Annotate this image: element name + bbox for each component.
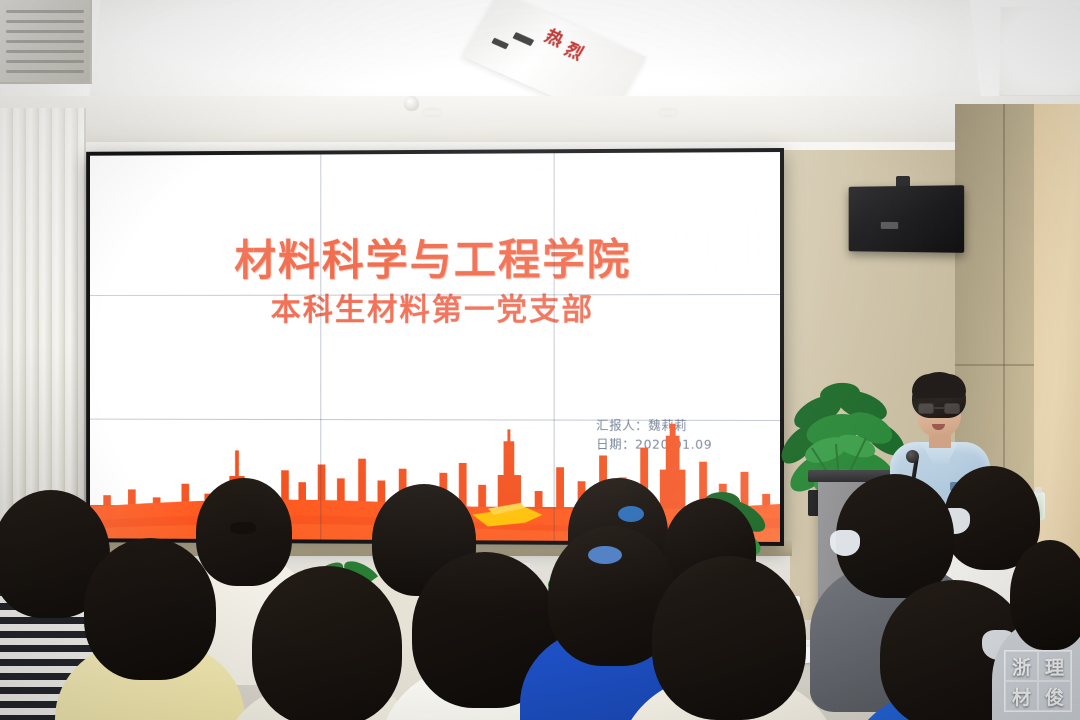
- watermark-char-2: 理: [1038, 651, 1071, 681]
- watermark-char-1: 浙: [1005, 651, 1038, 681]
- slide-subtitle: 本科生材料第一党支部: [90, 293, 780, 327]
- ceiling-spot-light: [660, 110, 676, 115]
- smoke-detector: [404, 96, 419, 111]
- watermark-char-3: 材: [1005, 681, 1038, 711]
- speaker-brand-logo: [881, 222, 898, 229]
- audience-person: [84, 538, 216, 680]
- ceiling-light-panel-secondary: [999, 7, 1080, 98]
- glasses-icon: [918, 403, 960, 414]
- presenter-hair-fringe: [912, 374, 966, 398]
- slide-title-block: 材料科学与工程学院 本科生材料第一党支部: [90, 238, 780, 327]
- audience-person: [652, 556, 806, 720]
- air-conditioner-vent: [0, 0, 92, 84]
- audience-person: [252, 566, 402, 720]
- conference-room-photo: 热 烈 材料科学与工程学院 本科生材料第一党支部 汇报人：魏莉莉 日期：2: [0, 0, 1080, 720]
- slide-title: 材料科学与工程学院: [90, 238, 780, 285]
- wall-mounted-loudspeaker: [849, 185, 964, 253]
- audience-area: [0, 460, 1080, 720]
- watermark-logo: 浙 理 材 俊: [1004, 650, 1072, 712]
- ceiling-edge: [0, 96, 1080, 142]
- audience-person: [1010, 540, 1080, 650]
- ceiling-spot-light: [424, 110, 440, 115]
- watermark-char-4: 俊: [1038, 681, 1071, 711]
